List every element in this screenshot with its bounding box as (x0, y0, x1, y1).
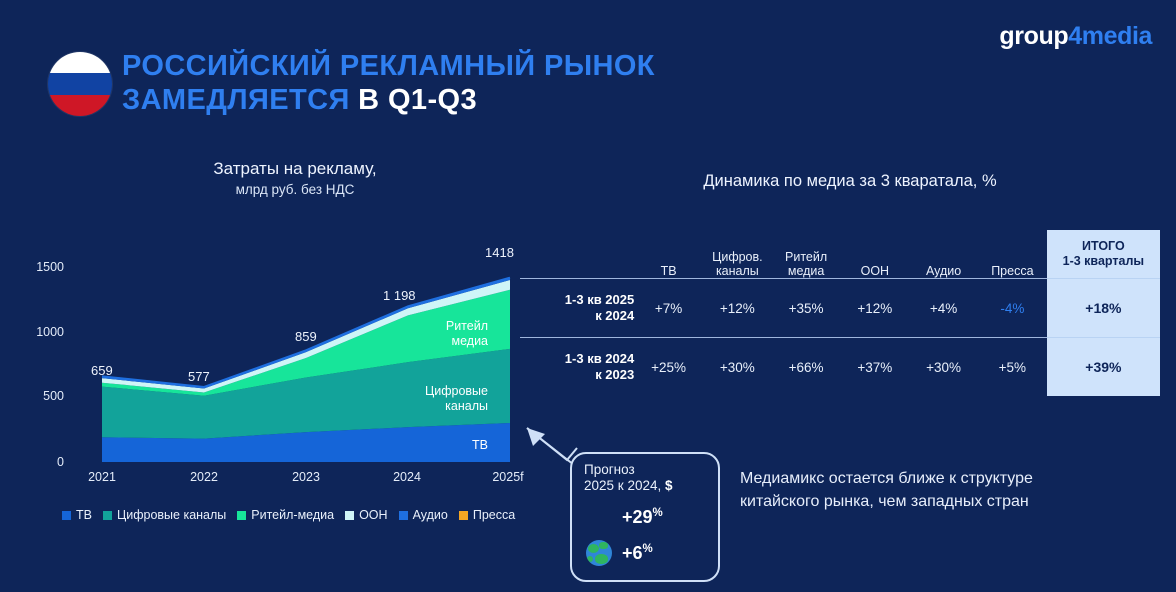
cell-2025-tv: +7% (634, 279, 703, 337)
legend-label-digital: Цифровые каналы (117, 508, 226, 522)
legend-label-press: Пресса (473, 508, 515, 522)
chart-canvas (40, 250, 540, 500)
cell-2024-audio: +30% (909, 338, 978, 396)
row-label-2024-1: 1-3 кв 2024 (565, 351, 634, 366)
legend-item-ooh: ООН (345, 508, 387, 522)
forecast-row-global: +6% (586, 540, 653, 566)
chart-subtitle: млрд руб. без НДС (60, 182, 530, 199)
series-label-tv: ТВ (420, 438, 488, 453)
table-header-total-2: 1-3 кварталы (1063, 254, 1144, 268)
legend-item-press: Пресса (459, 508, 515, 522)
series-label-digital-1: Цифровые (425, 384, 488, 398)
brand-logo-group: group (999, 22, 1068, 50)
legend-item-tv: ТВ (62, 508, 92, 522)
brand-logo-4media: 4media (1068, 22, 1152, 50)
page-title-line-2a: замедляется (122, 84, 358, 116)
table-header-tv: ТВ (634, 230, 703, 278)
data-label-2021: 659 (91, 363, 113, 378)
table-header-row: ТВ Цифров. каналы Ритейл медиа ООН Аудио… (520, 230, 1160, 278)
y-tick-1500: 1500 (18, 260, 64, 274)
legend-swatch-press (459, 511, 468, 520)
table-row: 1-3 кв 2025 к 2024 +7% +12% +35% +12% +4… (520, 279, 1160, 337)
table-header-press: Пресса (978, 230, 1047, 278)
cell-2025-total: +18% (1047, 279, 1160, 337)
page-title-line-1: Российский рекламный рынок (122, 50, 655, 82)
callout-title-line-1: Прогноз (584, 462, 635, 477)
cell-2025-digital: +12% (703, 279, 772, 337)
series-label-retail-2: медиа (452, 334, 489, 348)
cell-2024-digital: +30% (703, 338, 772, 396)
legend-swatch-retail (237, 511, 246, 520)
table-header-corner (520, 230, 634, 278)
x-tick-2022: 2022 (169, 470, 239, 484)
forecast-value-russia-num: +29 (622, 507, 653, 527)
data-label-2025f: 1418 (485, 245, 514, 260)
table-header-total-1: ИТОГО (1082, 239, 1125, 253)
cell-2024-tv: +25% (634, 338, 703, 396)
x-tick-2023: 2023 (271, 470, 341, 484)
forecast-row-russia: +29% (586, 504, 663, 530)
chart-title: Затраты на рекламу, млрд руб. без НДС (60, 158, 530, 199)
globe-icon (586, 540, 612, 566)
callout-title: Прогноз 2025 к 2024, $ (584, 462, 673, 494)
page-title-line-2b: в Q1-Q3 (358, 84, 477, 116)
legend-label-retail: Ритейл-медиа (251, 508, 334, 522)
chart-legend: ТВ Цифровые каналы Ритейл-медиа ООН Ауди… (62, 508, 515, 522)
media-mix-note: Медиамикс остается ближе к структуре кит… (740, 468, 1140, 513)
legend-swatch-audio (399, 511, 408, 520)
row-label-2025-1: 1-3 кв 2025 (565, 292, 634, 307)
russia-flag-circle-icon (48, 52, 112, 116)
brand-logo: group4media (999, 22, 1152, 51)
cell-2025-ooh: +12% (840, 279, 909, 337)
forecast-callout: Прогноз 2025 к 2024, $ +29% +6% (570, 452, 720, 582)
series-label-digital: Цифровые каналы (380, 384, 488, 414)
data-label-2022: 577 (188, 369, 210, 384)
cell-2025-retail: +35% (772, 279, 841, 337)
table-header-ooh: ООН (840, 230, 909, 278)
page-title: Российский рекламный рынок замедляется в… (122, 50, 772, 118)
table-header-retail: Ритейл медиа (772, 230, 841, 278)
y-tick-1000: 1000 (18, 325, 64, 339)
row-label-2025-2: к 2024 (595, 308, 634, 323)
legend-label-ooh: ООН (359, 508, 387, 522)
row-label-2024: 1-3 кв 2024 к 2023 (520, 338, 634, 396)
russia-flag-circle-icon (586, 504, 612, 530)
table-title: Динамика по медиа за 3 кваратала, % (600, 172, 1100, 191)
legend-swatch-ooh (345, 511, 354, 520)
data-label-2024: 1 198 (383, 288, 416, 303)
x-tick-2021: 2021 (67, 470, 137, 484)
legend-item-retail: Ритейл-медиа (237, 508, 334, 522)
forecast-value-russia: +29% (622, 507, 663, 528)
media-dynamics-table: ТВ Цифров. каналы Ритейл медиа ООН Аудио… (520, 230, 1160, 396)
x-tick-2024: 2024 (372, 470, 442, 484)
table-header-digital: Цифров. каналы (703, 230, 772, 278)
table-header-retail-2: медиа (788, 264, 825, 278)
table-row: 1-3 кв 2024 к 2023 +25% +30% +66% +37% +… (520, 338, 1160, 396)
legend-item-digital: Цифровые каналы (103, 508, 226, 522)
media-mix-note-line-1: Медиамикс остается ближе к структуре (740, 470, 1033, 487)
forecast-value-global: +6% (622, 543, 653, 564)
cell-2024-total: +39% (1047, 338, 1160, 396)
legend-label-audio: Аудио (413, 508, 448, 522)
cell-2024-press: +5% (978, 338, 1047, 396)
cell-2024-ooh: +37% (840, 338, 909, 396)
forecast-value-global-num: +6 (622, 543, 643, 563)
y-tick-500: 500 (18, 389, 64, 403)
callout-currency: $ (665, 478, 673, 493)
row-label-2024-2: к 2023 (595, 367, 634, 382)
table-header-digital-1: Цифров. (712, 250, 763, 264)
legend-item-audio: Аудио (399, 508, 448, 522)
dynamics-table: ТВ Цифров. каналы Ритейл медиа ООН Аудио… (520, 230, 1160, 396)
data-label-2023: 859 (295, 329, 317, 344)
y-tick-0: 0 (18, 455, 64, 469)
chart-title-main: Затраты на рекламу, (213, 159, 376, 178)
cell-2025-audio: +4% (909, 279, 978, 337)
cell-2024-retail: +66% (772, 338, 841, 396)
table-header-retail-1: Ритейл (785, 250, 827, 264)
series-label-retail: Ритейл медиа (390, 319, 488, 349)
legend-label-tv: ТВ (76, 508, 92, 522)
series-label-retail-1: Ритейл (446, 319, 488, 333)
table-header-digital-2: каналы (716, 264, 759, 278)
legend-swatch-digital (103, 511, 112, 520)
table-header-audio: Аудио (909, 230, 978, 278)
cell-2025-press: -4% (978, 279, 1047, 337)
advertising-spend-area-chart (40, 250, 540, 500)
callout-title-line-2: 2025 к 2024, (584, 478, 665, 493)
table-header-total: ИТОГО 1-3 кварталы (1047, 230, 1160, 278)
series-label-digital-2: каналы (445, 399, 488, 413)
forecast-value-russia-unit: % (653, 507, 663, 519)
forecast-value-global-unit: % (643, 543, 653, 555)
media-mix-note-line-2: китайского рынка, чем западных стран (740, 493, 1029, 510)
row-label-2025: 1-3 кв 2025 к 2024 (520, 279, 634, 337)
legend-swatch-tv (62, 511, 71, 520)
